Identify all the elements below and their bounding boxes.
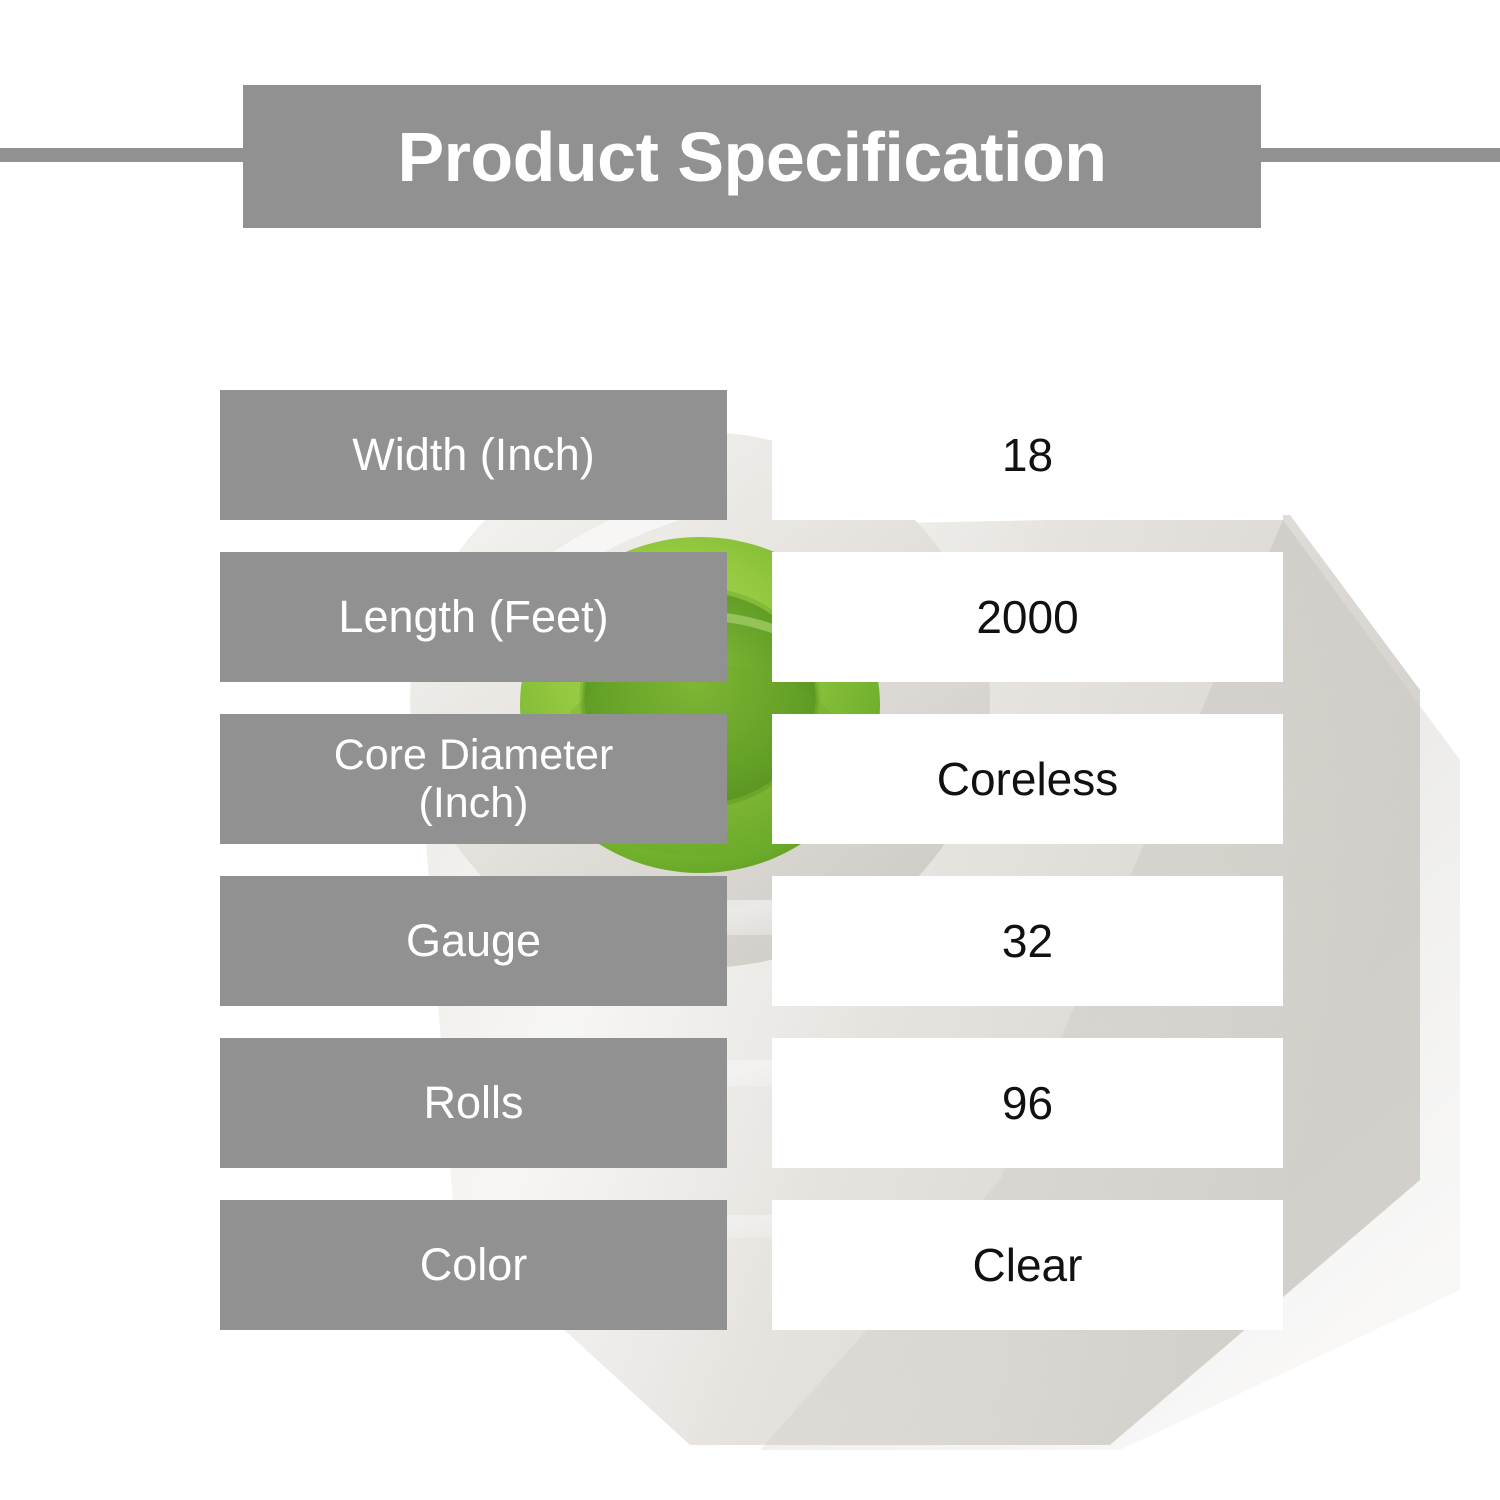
header-band: Product Specification <box>0 0 1500 300</box>
spec-value-width: 18 <box>772 390 1283 520</box>
spec-label-rolls: Rolls <box>220 1038 727 1168</box>
header-plaque: Product Specification <box>243 85 1261 228</box>
table-row: Color Clear <box>0 1200 1500 1330</box>
spec-value-color: Clear <box>772 1200 1283 1330</box>
table-row: Length (Feet) 2000 <box>0 552 1500 682</box>
table-row: Rolls 96 <box>0 1038 1500 1168</box>
table-row: Gauge 32 <box>0 876 1500 1006</box>
page-title: Product Specification <box>397 122 1106 192</box>
table-row: Width (Inch) 18 <box>0 390 1500 520</box>
spec-value-core-diameter: Coreless <box>772 714 1283 844</box>
spec-label-color: Color <box>220 1200 727 1330</box>
spec-value-rolls: 96 <box>772 1038 1283 1168</box>
spec-label-core-diameter: Core Diameter (Inch) <box>220 714 727 844</box>
table-row: Core Diameter (Inch) Coreless <box>0 714 1500 844</box>
spec-value-length: 2000 <box>772 552 1283 682</box>
spec-value-gauge: 32 <box>772 876 1283 1006</box>
spec-label-width: Width (Inch) <box>220 390 727 520</box>
spec-label-gauge: Gauge <box>220 876 727 1006</box>
spec-label-length: Length (Feet) <box>220 552 727 682</box>
